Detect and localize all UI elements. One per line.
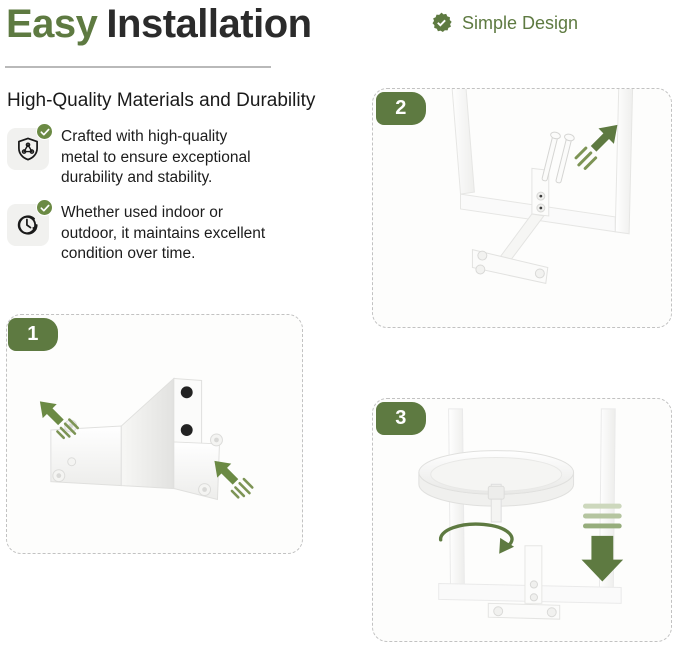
round-base-rotating-onto-post-with-arrows (373, 399, 671, 641)
feature-text: Crafted with high-quality metal to ensur… (61, 126, 251, 189)
wall-mount-bracket-with-two-arrows (7, 315, 302, 553)
page-title: EasyInstallation (6, 0, 312, 50)
step-number-badge: 1 (8, 318, 58, 351)
feature-icon-wrapper (7, 126, 51, 170)
step-number-badge: 2 (376, 92, 426, 125)
simple-design-badge: Simple Design (430, 12, 578, 35)
step-panel-3 (372, 398, 672, 642)
step-panel-1 (6, 314, 303, 554)
frame-attached-to-bracket-with-screws-and-arrow (373, 89, 671, 327)
feature-item: Whether used indoor or outdoor, it maint… (7, 202, 342, 265)
title-word-installation: Installation (106, 2, 311, 46)
step-number-badge: 3 (376, 402, 426, 435)
feature-text: Whether used indoor or outdoor, it maint… (61, 202, 265, 265)
page-header: EasyInstallation Simple Design (6, 0, 666, 56)
section-subtitle: High-Quality Materials and Durability (7, 90, 315, 112)
verified-rosette-icon (430, 12, 453, 35)
feature-icon-wrapper (7, 202, 51, 246)
header-divider (5, 66, 271, 68)
title-word-easy: Easy (6, 2, 97, 46)
check-circle-icon (36, 123, 53, 140)
check-circle-icon (36, 199, 53, 216)
simple-design-label: Simple Design (462, 12, 578, 35)
feature-item: Crafted with high-quality metal to ensur… (7, 126, 342, 189)
